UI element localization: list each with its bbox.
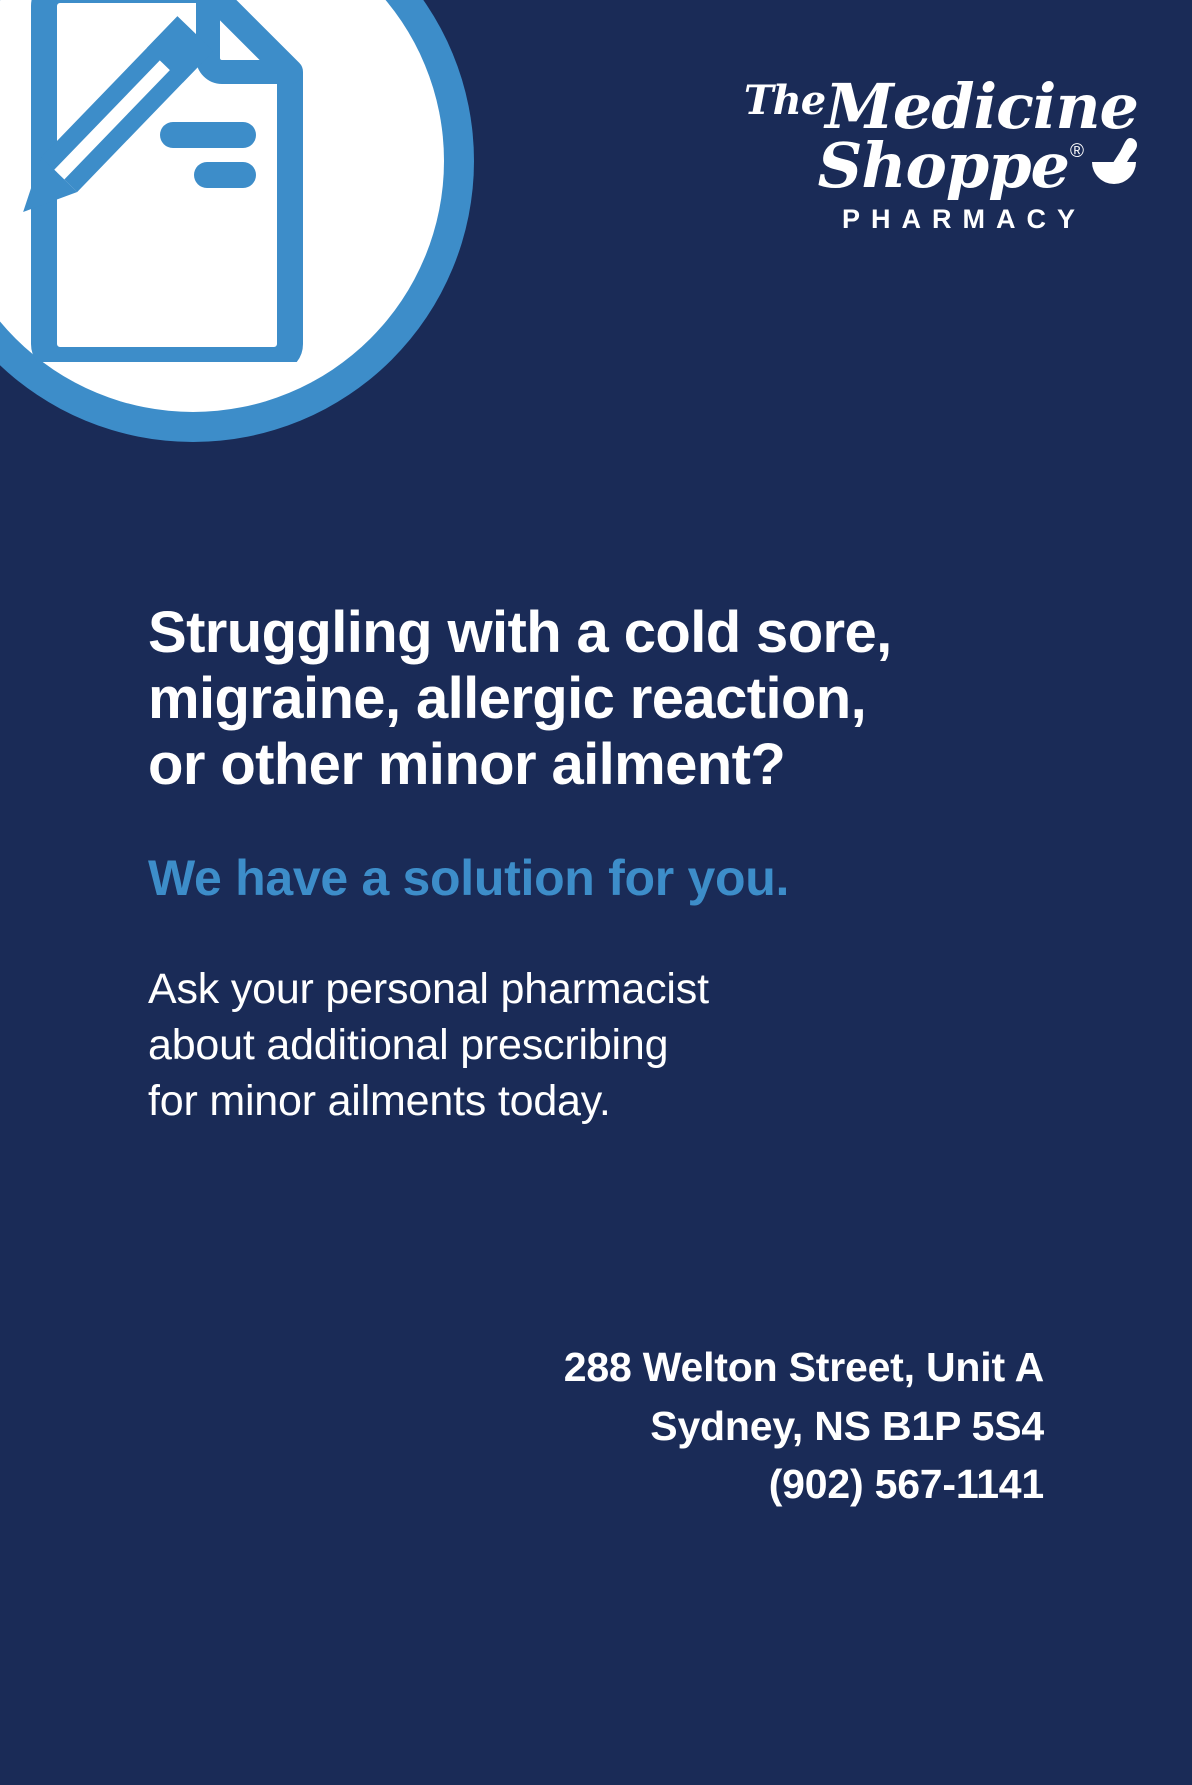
address-city-postal: Sydney, NS B1P 5S4 [564, 1397, 1044, 1455]
registered-mark-icon: ® [1070, 141, 1084, 162]
document-with-pencil-icon [8, 0, 380, 362]
brand-logo: TheMedicine Shoppe® PHARMACY [742, 78, 1142, 235]
subheadline: We have a solution for you. [148, 850, 1044, 908]
mortar-and-pestle-icon [1086, 134, 1142, 190]
headline: Struggling with a cold sore, migraine, a… [148, 600, 1044, 798]
badge [0, 0, 474, 442]
address-street: 288 Welton Street, Unit A [564, 1338, 1044, 1396]
address-block: 288 Welton Street, Unit A Sydney, NS B1P… [564, 1338, 1044, 1513]
content-block: Struggling with a cold sore, migraine, a… [148, 600, 1044, 1130]
logo-shoppe: Shoppe [818, 129, 1069, 202]
logo-shoppe-group: Shoppe® [818, 172, 1084, 191]
logo-pharmacy-word: PHARMACY [742, 204, 1142, 235]
address-phone: (902) 567-1141 [564, 1455, 1044, 1513]
logo-the: The [744, 77, 825, 124]
logo-script-line-2: Shoppe® [742, 137, 1142, 194]
logo-script-line-1: TheMedicine [742, 78, 1142, 135]
body-copy: Ask your personal pharmacist about addit… [148, 962, 1044, 1130]
